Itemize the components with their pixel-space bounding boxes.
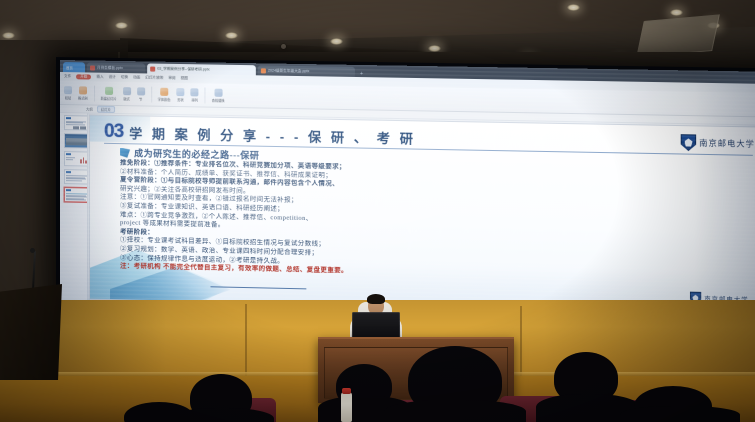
sprinkler-icon bbox=[281, 44, 286, 49]
paste-icon bbox=[64, 86, 72, 94]
thumbnail-image bbox=[80, 126, 86, 130]
ribbon-button-find-replace[interactable]: 查找替换 bbox=[212, 88, 225, 102]
section-icon bbox=[137, 87, 145, 95]
ribbon-button-format-painter-label: 格式刷 bbox=[78, 95, 88, 100]
section-bullet-icon bbox=[120, 148, 130, 158]
microphone-icon bbox=[30, 248, 35, 253]
thumbnail-title-bar bbox=[66, 153, 71, 155]
tab-document-2-label: 03_学期案例分享--保研考研.pptx bbox=[157, 66, 209, 72]
slide-canvas[interactable]: 03 学 期 案 例 分 享 - - - 保 研 、 考 研 南京邮电大学 成为… bbox=[89, 115, 755, 315]
ribbon-button-font-color[interactable]: 字体颜色 bbox=[158, 87, 171, 101]
tab-home-label: 首页 bbox=[66, 65, 73, 70]
thumbnail-title-bar bbox=[66, 117, 71, 119]
downlight-icon bbox=[428, 45, 441, 52]
tab-document-1-label: 月例会模板.pptx bbox=[97, 65, 123, 70]
ribbon-button-font-color-label: 字体颜色 bbox=[158, 96, 171, 101]
thumbnail-line bbox=[66, 124, 85, 125]
tab-home[interactable]: 首页 bbox=[63, 62, 85, 72]
ribbon-tab-view[interactable]: 视图 bbox=[181, 76, 188, 81]
find-replace-icon bbox=[214, 88, 222, 96]
downlight-icon bbox=[225, 32, 238, 39]
lecture-hall-photo: 首页 月例会模板.pptx 03_学期案例分享--保研考研.pptx 2024级… bbox=[0, 0, 755, 422]
ribbon-tab-file[interactable]: 文件 bbox=[64, 74, 71, 79]
ribbon-button-find-replace-label: 查找替换 bbox=[212, 97, 225, 102]
water-bottle-cap bbox=[342, 388, 351, 394]
ribbon-button-section[interactable]: 节 bbox=[137, 87, 145, 101]
ribbon-button-new-slide[interactable]: 新建幻灯片 bbox=[101, 86, 117, 100]
water-bottle bbox=[341, 392, 352, 422]
downlight-icon bbox=[670, 9, 683, 16]
new-slide-icon bbox=[105, 86, 113, 94]
ribbon-separator bbox=[205, 87, 206, 103]
thumbnail-line bbox=[66, 159, 73, 160]
pptx-file-icon bbox=[261, 68, 266, 73]
audience-shoulders bbox=[620, 406, 740, 422]
ribbon-tab-home[interactable]: 开始 bbox=[76, 74, 91, 79]
ribbon-button-layout[interactable]: 版式 bbox=[123, 87, 131, 101]
shape-icon bbox=[177, 88, 185, 96]
thumbnail-chart-bar bbox=[80, 159, 82, 163]
thumbnail-number: 10 bbox=[64, 153, 65, 156]
thumbnail-chart-bar bbox=[83, 157, 85, 163]
thumbnail-slide-8[interactable]: 8 bbox=[64, 115, 88, 130]
format-painter-icon bbox=[79, 86, 87, 94]
ribbon-tab-slideshow[interactable]: 幻灯片放映 bbox=[145, 75, 163, 80]
thumbnail-line bbox=[66, 199, 86, 200]
university-logo: 南京邮电大学 bbox=[681, 134, 755, 153]
ribbon-button-paste-label: 粘贴 bbox=[65, 95, 71, 100]
ribbon-button-section-label: 节 bbox=[139, 96, 142, 101]
pptx-file-icon bbox=[90, 65, 95, 70]
thumbnail-image bbox=[66, 138, 88, 145]
downlight-icon bbox=[330, 38, 343, 45]
thumbnail-number: 12 bbox=[64, 189, 65, 192]
ribbon-tab-insert[interactable]: 插入 bbox=[96, 75, 103, 80]
font-color-icon bbox=[160, 87, 168, 95]
wall-panel-line bbox=[245, 304, 247, 378]
slide-body-text: 推免阶段：①推荐条件：专业排名位次、科研竞赛加分项、英语等级要求； ②材料准备：… bbox=[120, 159, 745, 284]
ribbon-button-paste[interactable]: 粘贴 bbox=[64, 86, 72, 100]
ribbon-button-arrange-label: 排列 bbox=[191, 97, 197, 102]
wall-panel-line bbox=[520, 306, 522, 378]
ribbon-button-shape-label: 形状 bbox=[177, 97, 183, 102]
downlight-icon bbox=[115, 22, 128, 29]
thumbnail-slide-12[interactable]: 12 bbox=[64, 187, 88, 202]
ribbon-button-format-painter[interactable]: 格式刷 bbox=[78, 86, 88, 100]
presenter-hair bbox=[367, 294, 385, 304]
thumbnail-image bbox=[73, 126, 79, 130]
thumbnail-slide-9[interactable]: 9 bbox=[64, 133, 88, 148]
university-crest-icon bbox=[681, 134, 696, 152]
ribbon-button-shape[interactable]: 形状 bbox=[177, 88, 185, 102]
projection-screen: 首页 月例会模板.pptx 03_学期案例分享--保研考研.pptx 2024级… bbox=[60, 60, 755, 328]
thumbnail-chart-bar bbox=[85, 160, 87, 163]
ribbon-button-layout-label: 版式 bbox=[123, 96, 129, 101]
layout-icon bbox=[123, 87, 131, 95]
side-lectern bbox=[0, 284, 62, 380]
tab-slides[interactable]: 幻灯片 bbox=[97, 106, 115, 113]
ribbon-tab-animation[interactable]: 动画 bbox=[133, 75, 140, 80]
slide-number-badge: 03 bbox=[104, 121, 123, 143]
ribbon-tab-review[interactable]: 审阅 bbox=[168, 76, 175, 81]
thumbnail-line bbox=[66, 180, 82, 181]
ribbon-separator bbox=[94, 85, 95, 101]
pptx-file-icon bbox=[150, 66, 155, 71]
ribbon-button-arrange[interactable]: 排列 bbox=[191, 88, 199, 102]
thumbnail-title-bar bbox=[66, 189, 71, 191]
ribbon-tab-transition[interactable]: 切换 bbox=[121, 75, 128, 80]
downlight-icon bbox=[567, 4, 580, 11]
thumbnail-title-bar bbox=[66, 171, 71, 173]
tab-outline[interactable]: 大纲 bbox=[86, 106, 93, 111]
ribbon-separator bbox=[151, 86, 152, 102]
thumbnail-pane[interactable]: 8 9 10 11 bbox=[60, 113, 88, 301]
audience-shoulders bbox=[384, 400, 526, 422]
university-name: 南京邮电大学 bbox=[699, 137, 755, 149]
thumbnail-slide-11[interactable]: 11 bbox=[64, 169, 88, 184]
ribbon-tab-design[interactable]: 设计 bbox=[109, 75, 116, 80]
tab-document-3-label: 2024级新生年级大会.pptx bbox=[268, 68, 309, 74]
ribbon-button-new-slide-label: 新建幻灯片 bbox=[101, 95, 117, 100]
arrange-icon bbox=[191, 88, 199, 96]
thumbnail-slide-10[interactable]: 10 bbox=[64, 151, 88, 166]
downlight-icon bbox=[2, 32, 15, 39]
